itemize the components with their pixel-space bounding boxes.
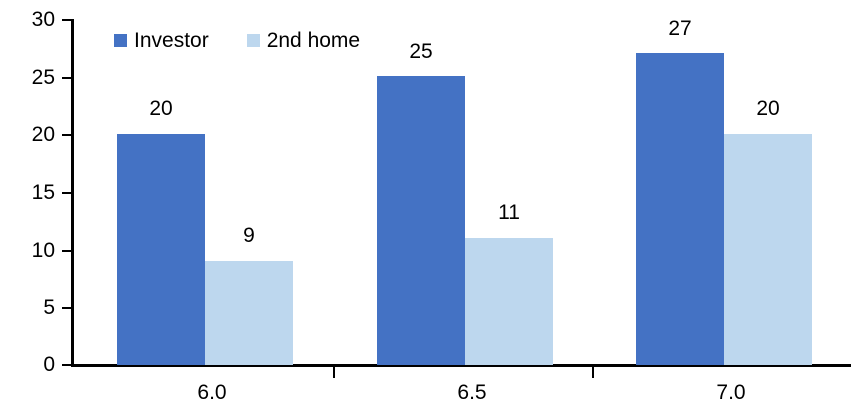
bar-value-investor-6-5: 25	[366, 41, 476, 62]
bar-value-investor-7-0: 27	[625, 18, 735, 39]
bar-second-home-7-0	[724, 134, 812, 365]
y-axis-label-10: 10	[15, 240, 55, 261]
bar-investor-7-0	[636, 53, 724, 365]
legend-item-second-home: 2nd home	[247, 30, 360, 51]
y-axis-label-15: 15	[15, 182, 55, 203]
y-axis-tick-5	[62, 307, 72, 309]
bar-chart: 30 25 20 15 10 5 0 6.0 6.5 7.0 20 9 25 1…	[0, 0, 852, 410]
y-axis-label-30: 30	[15, 9, 55, 30]
bar-second-home-6-0	[205, 261, 293, 365]
legend-item-investor: Investor	[114, 30, 209, 51]
bar-value-investor-6-0: 20	[106, 98, 216, 119]
chart-legend: Investor 2nd home	[114, 30, 360, 51]
bar-value-second-home-6-5: 11	[454, 202, 564, 223]
bar-investor-6-5	[377, 76, 465, 365]
x-axis-separator-1	[333, 367, 335, 378]
legend-label-second-home: 2nd home	[267, 30, 360, 51]
bar-value-second-home-7-0: 20	[713, 98, 823, 119]
legend-swatch-icon-second-home	[247, 34, 260, 47]
legend-label-investor: Investor	[134, 30, 209, 51]
bar-value-second-home-6-0: 9	[194, 225, 304, 246]
y-axis-tick-10	[62, 250, 72, 252]
y-axis-label-5: 5	[15, 297, 55, 318]
x-axis-label-group-3: 7.0	[671, 381, 791, 405]
bar-investor-6-0	[117, 134, 205, 365]
bar-second-home-6-5	[465, 238, 553, 365]
x-axis-label-group-1: 6.0	[152, 381, 272, 405]
y-axis-label-20: 20	[15, 124, 55, 145]
y-axis-tick-20	[62, 134, 72, 136]
y-axis-tick-30	[62, 19, 72, 21]
x-axis-label-group-2: 6.5	[412, 381, 532, 405]
y-axis-tick-15	[62, 192, 72, 194]
y-axis-label-0: 0	[15, 354, 55, 375]
y-axis-label-25: 25	[15, 67, 55, 88]
legend-swatch-icon-investor	[114, 34, 127, 47]
y-axis-tick-25	[62, 77, 72, 79]
x-axis-separator-2	[592, 367, 594, 378]
